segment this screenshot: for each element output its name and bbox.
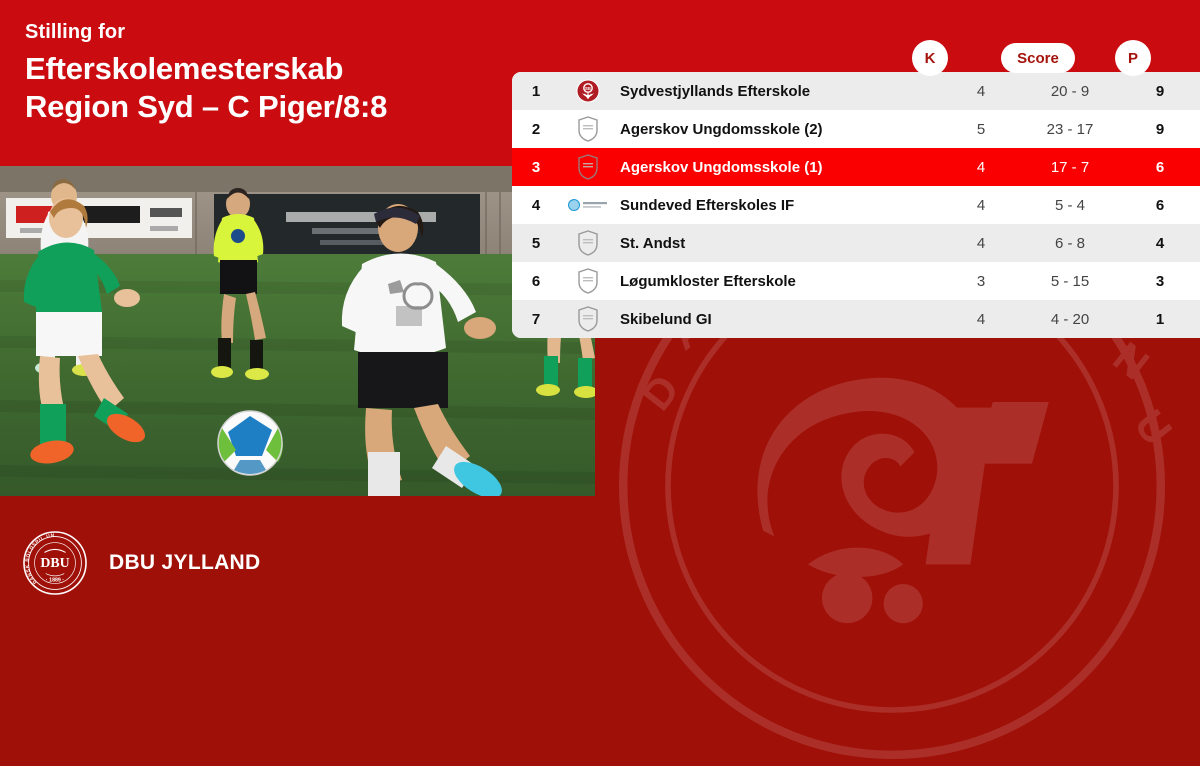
row-matches: 4 — [942, 311, 1020, 328]
row-team-name: Løgumkloster Efterskole — [616, 273, 942, 290]
football-match-photo — [0, 166, 595, 496]
title-kicker: Stilling for — [25, 20, 505, 45]
svg-text:N: N — [1105, 333, 1158, 389]
row-team-name: Agerskov Ungdomsskole (1) — [616, 159, 942, 176]
row-team-name: St. Andst — [616, 235, 942, 252]
table-row[interactable]: 6 Løgumkloster Efterskole 3 5 - 15 3 — [512, 262, 1200, 300]
row-position: 3 — [512, 159, 560, 176]
row-points: 9 — [1120, 83, 1200, 100]
row-matches: 4 — [942, 159, 1020, 176]
row-points: 3 — [1120, 273, 1200, 290]
standings-table: 1 SE Sydvestjyllands Efterskole 4 20 - 9… — [512, 72, 1200, 338]
table-row[interactable]: 2 Agerskov Ungdomsskole (2) 5 23 - 17 9 — [512, 110, 1200, 148]
row-points: 6 — [1120, 159, 1200, 176]
title-main: Efterskolemesterskab Region Syd – C Pige… — [25, 50, 505, 127]
row-score: 6 - 8 — [1020, 235, 1120, 252]
row-matches: 4 — [942, 83, 1020, 100]
row-score: 5 - 15 — [1020, 273, 1120, 290]
row-matches: 4 — [942, 197, 1020, 214]
svg-text:· 1889 ·: · 1889 · — [46, 577, 64, 583]
row-team-name: Sydvestjyllands Efterskole — [616, 83, 942, 100]
row-position: 2 — [512, 121, 560, 138]
column-header-matches: K — [912, 40, 948, 76]
svg-text:SE: SE — [585, 86, 591, 91]
generic-shield-crest-icon — [560, 116, 616, 142]
svg-text:DBU: DBU — [40, 555, 69, 570]
row-matches: 4 — [942, 235, 1020, 252]
row-position: 1 — [512, 83, 560, 100]
svg-text:D: D — [632, 366, 688, 419]
row-score: 4 - 20 — [1020, 311, 1120, 328]
column-header-score: Score — [1001, 43, 1075, 73]
footer-label: DBU JYLLAND — [109, 551, 260, 575]
row-position: 6 — [512, 273, 560, 290]
page-title: Stilling for Efterskolemesterskab Region… — [25, 20, 505, 127]
row-matches: 5 — [942, 121, 1020, 138]
row-score: 5 - 4 — [1020, 197, 1120, 214]
generic-shield-crest-icon — [560, 268, 616, 294]
row-points: 1 — [1120, 311, 1200, 328]
generic-shield-crest-icon — [560, 306, 616, 332]
dbu-logo-icon: DANSK BOLDSPIL UNION DBU · 1889 · — [22, 530, 88, 596]
svg-text:U: U — [1126, 401, 1172, 454]
row-position: 7 — [512, 311, 560, 328]
title-line-2: Region Syd – C Piger/8:8 — [25, 88, 505, 126]
row-team-name: Agerskov Ungdomsskole (2) — [616, 121, 942, 138]
row-score: 23 - 17 — [1020, 121, 1120, 138]
sundeved-logo-icon — [560, 198, 616, 212]
row-team-name: Sundeved Efterskoles IF — [616, 197, 942, 214]
row-matches: 3 — [942, 273, 1020, 290]
generic-shield-crest-icon — [560, 154, 616, 180]
row-points: 9 — [1120, 121, 1200, 138]
table-row[interactable]: 1 SE Sydvestjyllands Efterskole 4 20 - 9… — [512, 72, 1200, 110]
se-circle-crest-icon: SE — [560, 79, 616, 103]
row-points: 6 — [1120, 197, 1200, 214]
column-header-points: P — [1115, 40, 1151, 76]
footer: DANSK BOLDSPIL UNION DBU · 1889 · DBU JY… — [0, 496, 1200, 630]
row-score: 17 - 7 — [1020, 159, 1120, 176]
row-team-name: Skibelund GI — [616, 311, 942, 328]
table-row[interactable]: 7 Skibelund GI 4 4 - 20 1 — [512, 300, 1200, 338]
row-points: 4 — [1120, 235, 1200, 252]
table-row[interactable]: 5 St. Andst 4 6 - 8 4 — [512, 224, 1200, 262]
row-position: 4 — [512, 197, 560, 214]
row-score: 20 - 9 — [1020, 83, 1120, 100]
table-row-highlighted[interactable]: 3 Agerskov Ungdomsskole (1) 4 17 - 7 6 — [512, 148, 1200, 186]
title-line-1: Efterskolemesterskab — [25, 50, 505, 88]
table-row[interactable]: 4 Sundeved Efterskoles IF 4 5 - 4 6 — [512, 186, 1200, 224]
generic-shield-crest-icon — [560, 230, 616, 256]
row-position: 5 — [512, 235, 560, 252]
